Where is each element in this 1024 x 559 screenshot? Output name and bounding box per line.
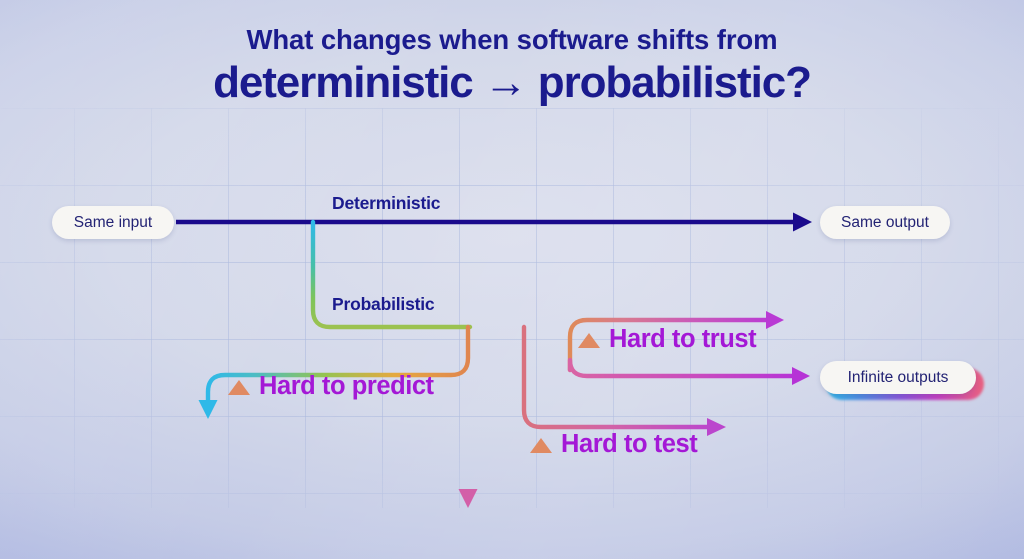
triangle-icon — [578, 333, 600, 348]
branch-hard-to-test: Hard to test — [530, 432, 697, 458]
branch-hard-to-trust: Hard to trust — [578, 327, 756, 353]
branch-hard-to-predict: Hard to predict — [228, 374, 434, 400]
triangle-icon — [228, 380, 250, 395]
label-probabilistic: Probabilistic — [332, 296, 434, 314]
branch-hard-to-predict-label: Hard to predict — [259, 374, 434, 400]
connector-infinite-outputs — [570, 360, 810, 385]
connector-deterministic — [176, 213, 812, 232]
triangle-icon — [530, 438, 552, 453]
flow-diagram — [0, 0, 1024, 559]
branch-hard-to-test-label: Hard to test — [561, 432, 697, 458]
branch-hard-to-trust-label: Hard to trust — [609, 327, 756, 353]
label-deterministic: Deterministic — [332, 195, 440, 213]
pill-infinite-outputs[interactable]: Infinite outputs — [820, 361, 976, 394]
slide-canvas: What changes when software shifts from d… — [0, 0, 1024, 559]
pill-same-input[interactable]: Same input — [52, 206, 174, 239]
pill-same-output[interactable]: Same output — [820, 206, 950, 239]
connector-open-drop — [459, 375, 478, 508]
